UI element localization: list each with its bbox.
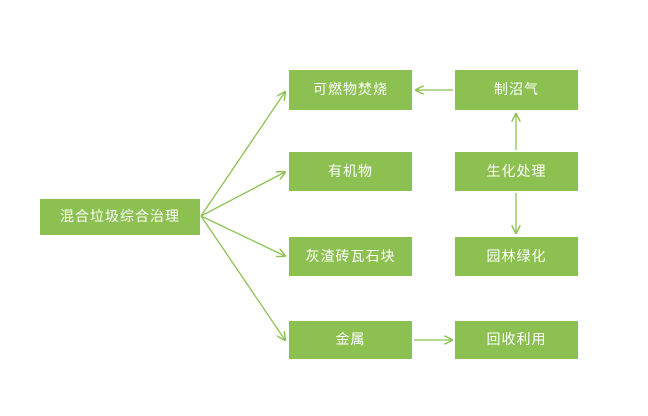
node-biochemical-treatment[interactable]: 生化处理: [455, 152, 578, 191]
edge-root-to-organic-matter: [201, 172, 285, 216]
node-biogas-production-label: 制沼气: [494, 83, 539, 97]
node-landscaping[interactable]: 园林绿化: [455, 237, 578, 276]
node-ash-brick-tile-stone[interactable]: 灰渣砖瓦石块: [289, 237, 412, 276]
edge-root-to-ash-brick-tile-stone: [201, 216, 285, 256]
node-combustible-incineration-label: 可燃物焚烧: [313, 83, 388, 97]
node-combustible-incineration[interactable]: 可燃物焚烧: [289, 70, 412, 110]
node-root[interactable]: 混合垃圾综合治理: [40, 199, 200, 235]
node-biochemical-treatment-label: 生化处理: [487, 165, 547, 179]
edge-root-to-metal: [201, 216, 285, 340]
node-metal-label: 金属: [336, 333, 366, 347]
node-organic-matter[interactable]: 有机物: [289, 152, 412, 191]
node-root-label: 混合垃圾综合治理: [60, 210, 180, 224]
node-landscaping-label: 园林绿化: [487, 250, 547, 264]
node-biogas-production[interactable]: 制沼气: [455, 70, 578, 110]
edge-root-to-combustible-incineration: [201, 92, 285, 216]
flowchart-diagram: 混合垃圾综合治理 可燃物焚烧 有机物 灰渣砖瓦石块 金属 制沼气 生化处理 园林…: [0, 0, 648, 416]
node-organic-matter-label: 有机物: [328, 165, 373, 179]
node-metal[interactable]: 金属: [289, 321, 412, 359]
node-recycling-reuse[interactable]: 回收利用: [455, 321, 578, 359]
node-recycling-reuse-label: 回收利用: [487, 333, 547, 347]
node-ash-brick-tile-stone-label: 灰渣砖瓦石块: [306, 250, 396, 264]
